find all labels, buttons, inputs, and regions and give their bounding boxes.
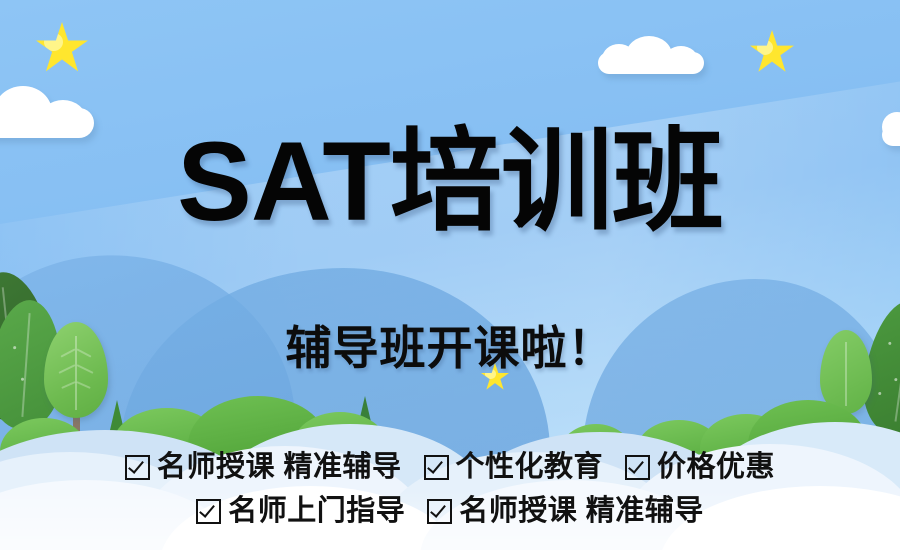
checkbox-checked-icon <box>625 455 650 480</box>
feature-label: 名师授课 精准辅导 <box>157 446 402 490</box>
feature-item: 名师授课 精准辅导 <box>427 490 704 534</box>
star-top-right-icon <box>750 30 794 74</box>
feature-item: 名师上门指导 <box>196 490 405 534</box>
feature-label: 价格优惠 <box>657 446 775 490</box>
feature-row-2: 名师上门指导 名师授课 精准辅导 <box>0 490 900 534</box>
page-title: SAT培训班 <box>0 126 900 238</box>
feature-item: 个性化教育 <box>424 446 604 490</box>
star-top-left-icon <box>36 22 88 74</box>
feature-label: 个性化教育 <box>456 446 604 490</box>
checkbox-checked-icon <box>125 455 150 480</box>
poster-subtitle: 辅导班开课啦！ <box>0 322 900 375</box>
feature-label: 名师上门指导 <box>228 490 405 534</box>
checkbox-checked-icon <box>196 499 221 524</box>
sat-course-poster: SAT培训班 辅导班开课啦！ 名师授课 精准辅导 个性化教育 价格优惠 名师上门… <box>0 0 900 550</box>
checkbox-checked-icon <box>427 499 452 524</box>
cloud-top-icon <box>598 36 704 74</box>
feature-list: 名师授课 精准辅导 个性化教育 价格优惠 名师上门指导 名师授课 精准辅导 <box>0 446 900 533</box>
checkbox-checked-icon <box>424 455 449 480</box>
feature-item: 名师授课 精准辅导 <box>125 446 402 490</box>
feature-row-1: 名师授课 精准辅导 个性化教育 价格优惠 <box>0 446 900 490</box>
feature-item: 价格优惠 <box>625 446 775 490</box>
feature-label: 名师授课 精准辅导 <box>459 490 704 534</box>
